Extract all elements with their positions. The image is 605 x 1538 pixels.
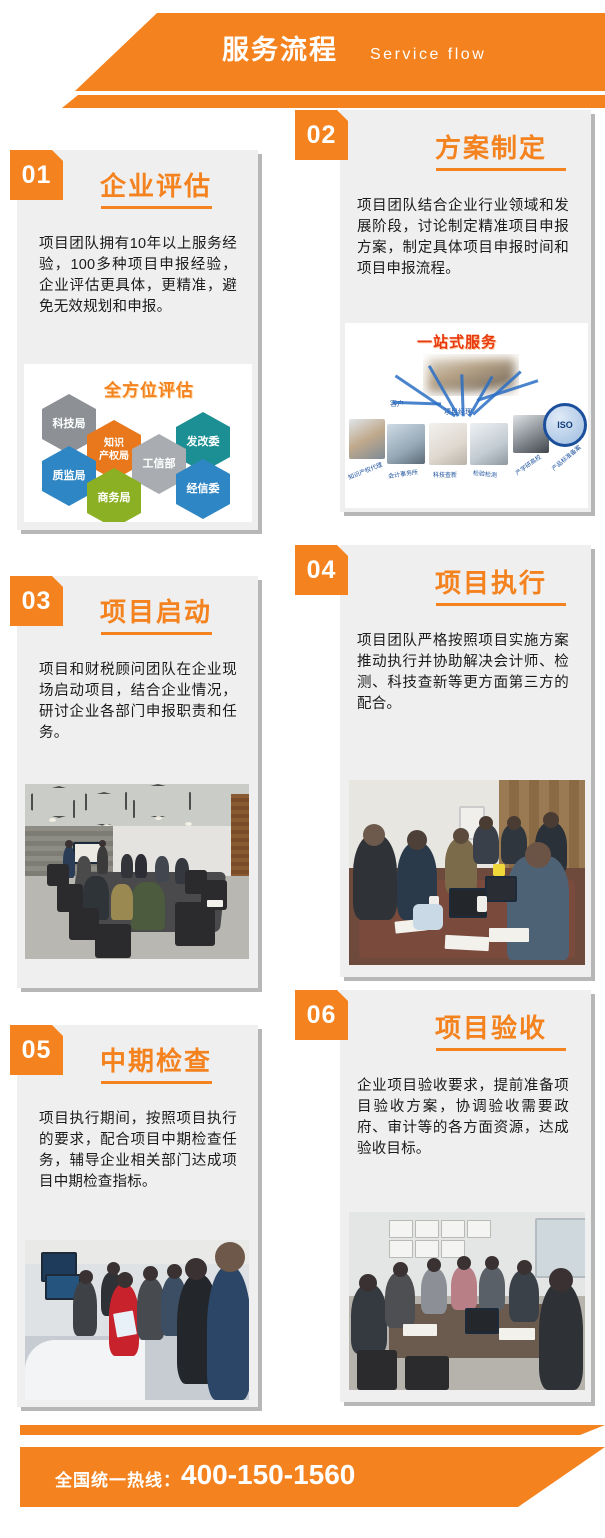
card-01-title: 企业评估	[100, 166, 212, 203]
photo4-paper-2	[445, 935, 490, 951]
photo5-head-1	[79, 1270, 93, 1284]
photo5-head-3	[143, 1266, 158, 1281]
photo6-person-7	[539, 1282, 583, 1390]
photo4-head-2	[407, 830, 427, 850]
photo4-person-4	[473, 824, 499, 864]
photo5-head-6	[215, 1242, 245, 1272]
card-06-title: 项目验收	[435, 1008, 547, 1045]
photo4-bag	[413, 904, 443, 930]
card-04-text: 项目团队严格按照项目实施方案推动执行并协助解决会计师、检测、科技查新等更方面第三…	[357, 631, 569, 715]
card-02: 02 方案制定 项目团队结合企业行业领域和发展阶段，讨论制定精准项目申报方案，制…	[295, 110, 595, 520]
header-accent-stripe	[0, 95, 605, 108]
photo5-brochure	[113, 1310, 137, 1337]
poster-canvas: 服务流程 Service flow 01 企业评估 项目团队拥有10年以上服务经…	[0, 0, 605, 1538]
page-header: 服务流程 Service flow	[0, 0, 605, 120]
photo6-head-5	[485, 1256, 499, 1270]
card-06: 06 项目验收 企业项目验收要求，提前准备项目验收方案，协调验收需要政府、审计等…	[295, 990, 595, 1410]
oss-branch-label-1: 知识产权代理	[347, 460, 384, 482]
card-03-text: 项目和财税顾问团队在企业现场启动项目，结合企业情况，研讨企业各部门申报职责和任务…	[39, 660, 237, 744]
photo4-head-6	[543, 812, 559, 828]
photo-wood-panel	[231, 794, 249, 889]
photo6-chair-1	[357, 1350, 397, 1390]
oss-branch-photo-1	[349, 419, 385, 459]
photo6-head-6	[517, 1260, 532, 1275]
oss-branch-label-5: 产学研高校	[513, 452, 543, 477]
lobby-visit-photo	[25, 1240, 249, 1400]
photo6-head-3	[427, 1258, 441, 1272]
photo4-head-1	[363, 824, 385, 846]
card-06-text: 企业项目验收要求，提前准备项目验收方案，协调验收需要政府、审计等的各方面资源，达…	[357, 1076, 569, 1160]
photo-paper-1	[207, 900, 223, 907]
card-02-title: 方案制定	[435, 128, 547, 165]
card-04-title: 项目执行	[435, 563, 547, 600]
photo6-person-1	[351, 1284, 387, 1354]
meeting-laptops-photo	[349, 780, 585, 965]
photo6-laptop	[465, 1308, 499, 1334]
photo6-frame-3	[441, 1220, 465, 1238]
page-title: 服务流程	[222, 30, 338, 70]
photo6-head-2	[393, 1262, 408, 1277]
photo6-frame-4	[467, 1220, 491, 1238]
photo-chair-1	[47, 864, 69, 886]
card-03-title: 项目启动	[100, 592, 212, 629]
acceptance-meeting-photo	[349, 1212, 585, 1390]
photo6-person-3	[421, 1268, 447, 1314]
oss-branch-label-2: 会计事务所	[388, 467, 419, 480]
photo4-head-3	[453, 828, 469, 844]
photo6-head-7	[549, 1268, 573, 1292]
photo6-person-5	[479, 1266, 505, 1310]
photo6-paper-2	[499, 1328, 535, 1340]
photo5-person-1	[73, 1280, 97, 1336]
photo6-person-2	[385, 1272, 415, 1328]
photo4-laptop-2	[485, 876, 517, 902]
photo6-frame-5	[389, 1240, 413, 1258]
photo-light-1	[49, 818, 56, 822]
oss-branch-label-4: 检验检测	[473, 468, 498, 479]
card-01-title-rule	[101, 206, 212, 209]
photo-person-2	[121, 854, 133, 878]
photo6-head-4	[457, 1256, 471, 1270]
photo4-yellow-item	[493, 864, 505, 876]
card-02-title-rule	[436, 168, 566, 171]
card-04-number-badge: 04	[295, 545, 348, 595]
photo6-frame-2	[415, 1220, 439, 1238]
card-06-number-badge: 06	[295, 990, 348, 1040]
page-subtitle: Service flow	[370, 40, 486, 70]
photo-person-presenter	[97, 846, 108, 874]
photo6-person-6	[509, 1270, 539, 1322]
photo5-head-2	[107, 1262, 120, 1275]
photo4-head-4	[479, 816, 493, 830]
photo6-frame-1	[389, 1220, 413, 1238]
oss-iso-seal-icon: ISO	[543, 403, 587, 447]
card-01: 01 企业评估 项目团队拥有10年以上服务经验，100多种项目申报经验，企业评估…	[17, 150, 266, 538]
photo-person-4	[155, 856, 169, 882]
photo5-head-5	[185, 1258, 207, 1280]
card-05-title: 中期检查	[100, 1041, 212, 1078]
photo-person-standing-head	[65, 840, 73, 848]
photo-chair-4	[95, 924, 131, 958]
photo4-person-1	[353, 834, 397, 920]
photo5-head-4	[167, 1264, 182, 1279]
card-01-number-badge: 01	[10, 150, 63, 200]
photo5-person-6	[207, 1266, 249, 1400]
photo4-head-front	[525, 842, 551, 868]
conference-room-photo	[25, 784, 249, 959]
oss-branch-label-3: 科技查新	[433, 470, 457, 479]
photo6-chair-2	[405, 1356, 449, 1390]
card-05: 05 中期检查 项目执行期间，按照项目执行的要求，配合项目中期检查任务，辅导企业…	[17, 1025, 266, 1415]
oss-branch-photo-2	[387, 424, 425, 464]
photo-person-yellow	[111, 884, 133, 920]
card-01-text: 项目团队拥有10年以上服务经验，100多种项目申报经验，企业评估更具体，更精准，…	[39, 234, 237, 318]
card-04-title-rule	[436, 603, 566, 606]
photo4-paper-3	[489, 928, 529, 942]
photo6-person-4	[451, 1266, 477, 1310]
footer-phone-number[interactable]: 400-150-1560	[181, 1459, 355, 1491]
photo-person-green-coat	[131, 882, 165, 930]
hexagon-chart: 全方位评估 科技局 知识产权局 发改委 质监局 工信部 商务局 经信委	[24, 364, 252, 522]
card-05-title-rule	[101, 1081, 212, 1084]
hexagon-chart-title: 全方位评估	[104, 376, 194, 401]
card-03: 03 项目启动 项目和财税顾问团队在企业现场启动项目，结合企业情况，研讨企业各部…	[17, 576, 266, 996]
card-02-number-badge: 02	[295, 110, 348, 160]
card-06-title-rule	[436, 1048, 566, 1051]
card-05-number-badge: 05	[10, 1025, 63, 1075]
oss-branch-photo-4	[470, 423, 508, 465]
card-02-text: 项目团队结合企业行业领域和发展阶段，讨论制定精准项目申报方案，制定具体项目申报时…	[357, 196, 569, 280]
photo6-frame-6	[415, 1240, 439, 1258]
photo6-paper-1	[403, 1324, 437, 1336]
photo4-cup-2	[477, 896, 487, 912]
one-stop-service-title: 一站式服务	[417, 331, 497, 352]
footer-accent-stripe	[20, 1425, 605, 1435]
footer-hotline-label: 全国统一热线：	[55, 1466, 181, 1491]
card-05-text: 项目执行期间，按照项目执行的要求，配合项目中期检查任务，辅导企业相关部门达成项目…	[39, 1109, 237, 1193]
photo4-head-5	[507, 816, 521, 830]
one-stop-service-diagram: 一站式服务 客户 项目经理 ISO 知识产权代理 会计事务所 科技查新 检验检测…	[345, 323, 588, 508]
oss-branch-photo-3	[429, 423, 467, 465]
photo-light-3	[155, 816, 162, 820]
photo4-person-front	[507, 856, 569, 960]
photo-person-3	[135, 854, 147, 878]
photo6-head-1	[359, 1274, 377, 1292]
card-03-number-badge: 03	[10, 576, 63, 626]
card-03-title-rule	[101, 632, 212, 635]
photo-chair-7	[175, 902, 215, 946]
photo-person-presenter-head	[99, 840, 106, 847]
photo5-head-red	[117, 1272, 133, 1288]
card-04: 04 项目执行 项目团队严格按照项目实施方案推动执行并协助解决会计师、检测、科技…	[295, 545, 595, 985]
